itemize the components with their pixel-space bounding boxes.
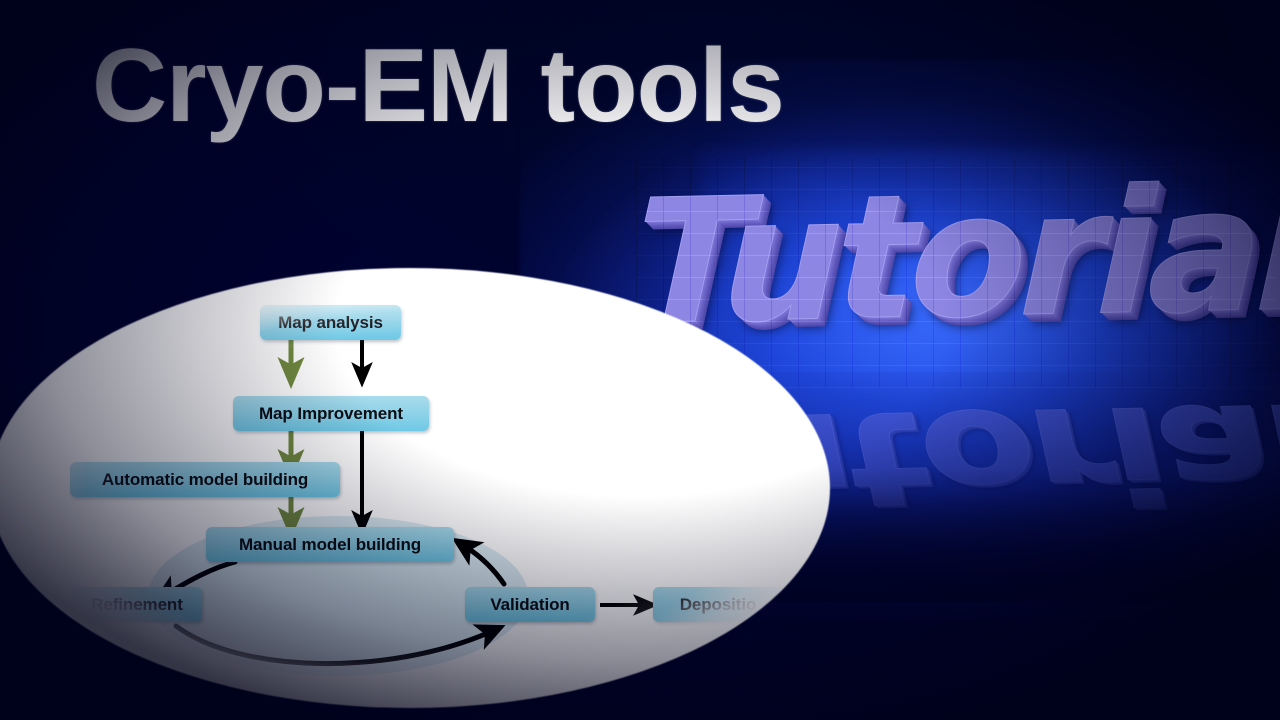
node-map-analysis[interactable]: Map analysis	[260, 305, 401, 340]
slide-root: Tutorial Tutorial Cryo-EM tools	[0, 0, 1280, 720]
arrow-cycle-validation-to-manual	[466, 547, 504, 584]
node-automatic-model-building[interactable]: Automatic model building	[70, 462, 340, 497]
node-refinement[interactable]: Refinement	[72, 587, 202, 622]
arrow-cycle-refinement-to-validation	[176, 626, 490, 664]
node-manual-model-building[interactable]: Manual model building	[206, 527, 454, 562]
node-deposition[interactable]: Depositio	[653, 587, 783, 622]
node-validation[interactable]: Validation	[465, 587, 595, 622]
workflow-diagram: Map analysis Map Improvement Automatic m…	[0, 268, 840, 708]
diagram-clip-mask: Map analysis Map Improvement Automatic m…	[0, 268, 840, 708]
node-map-improvement[interactable]: Map Improvement	[233, 396, 429, 431]
page-title: Cryo-EM tools	[92, 34, 784, 138]
